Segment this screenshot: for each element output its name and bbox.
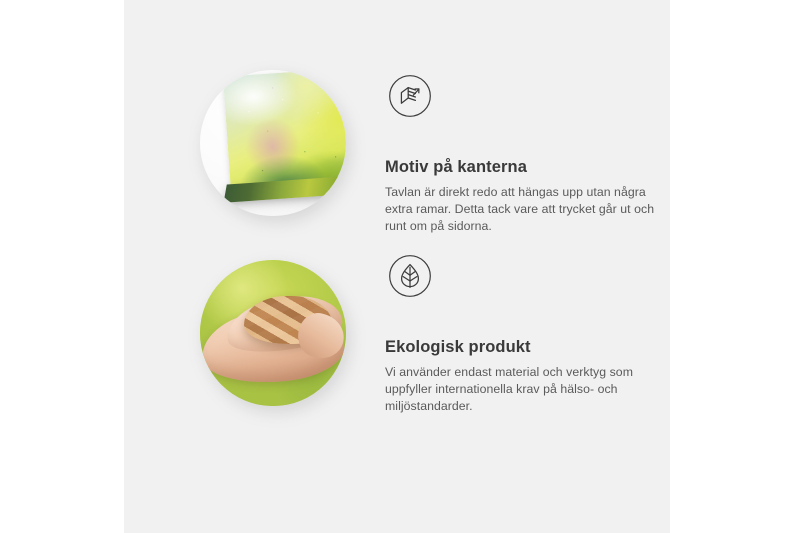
leaf-icon	[388, 254, 432, 298]
feature-block-motiv-pa-kanterna: Motiv på kanterna Tavlan är direkt redo …	[124, 70, 670, 250]
feature-description: Tavlan är direkt redo att hängas upp uta…	[385, 184, 665, 234]
hands-holding-wood-chips-photo	[200, 260, 346, 406]
feature-title: Ekologisk produkt	[385, 338, 665, 357]
canvas-print-scene	[200, 70, 346, 216]
feature-description: Vi använder endast material och verktyg …	[385, 364, 665, 414]
eco-scene	[200, 260, 346, 406]
product-info-banner: Motiv på kanterna Tavlan är direkt redo …	[0, 0, 800, 533]
canvas-print-corner-photo	[200, 70, 346, 216]
feature-block-ekologisk-produkt: Ekologisk produkt Vi använder endast mat…	[124, 250, 670, 430]
feature-title: Motiv på kanterna	[385, 158, 665, 177]
content-panel: Motiv på kanterna Tavlan är direkt redo …	[124, 0, 670, 533]
feature-copy-ekologisk-produkt: Ekologisk produkt Vi använder endast mat…	[385, 338, 665, 414]
canvas-edge-wrap-icon	[388, 74, 432, 118]
feature-copy-motiv-pa-kanterna: Motiv på kanterna Tavlan är direkt redo …	[385, 158, 665, 234]
